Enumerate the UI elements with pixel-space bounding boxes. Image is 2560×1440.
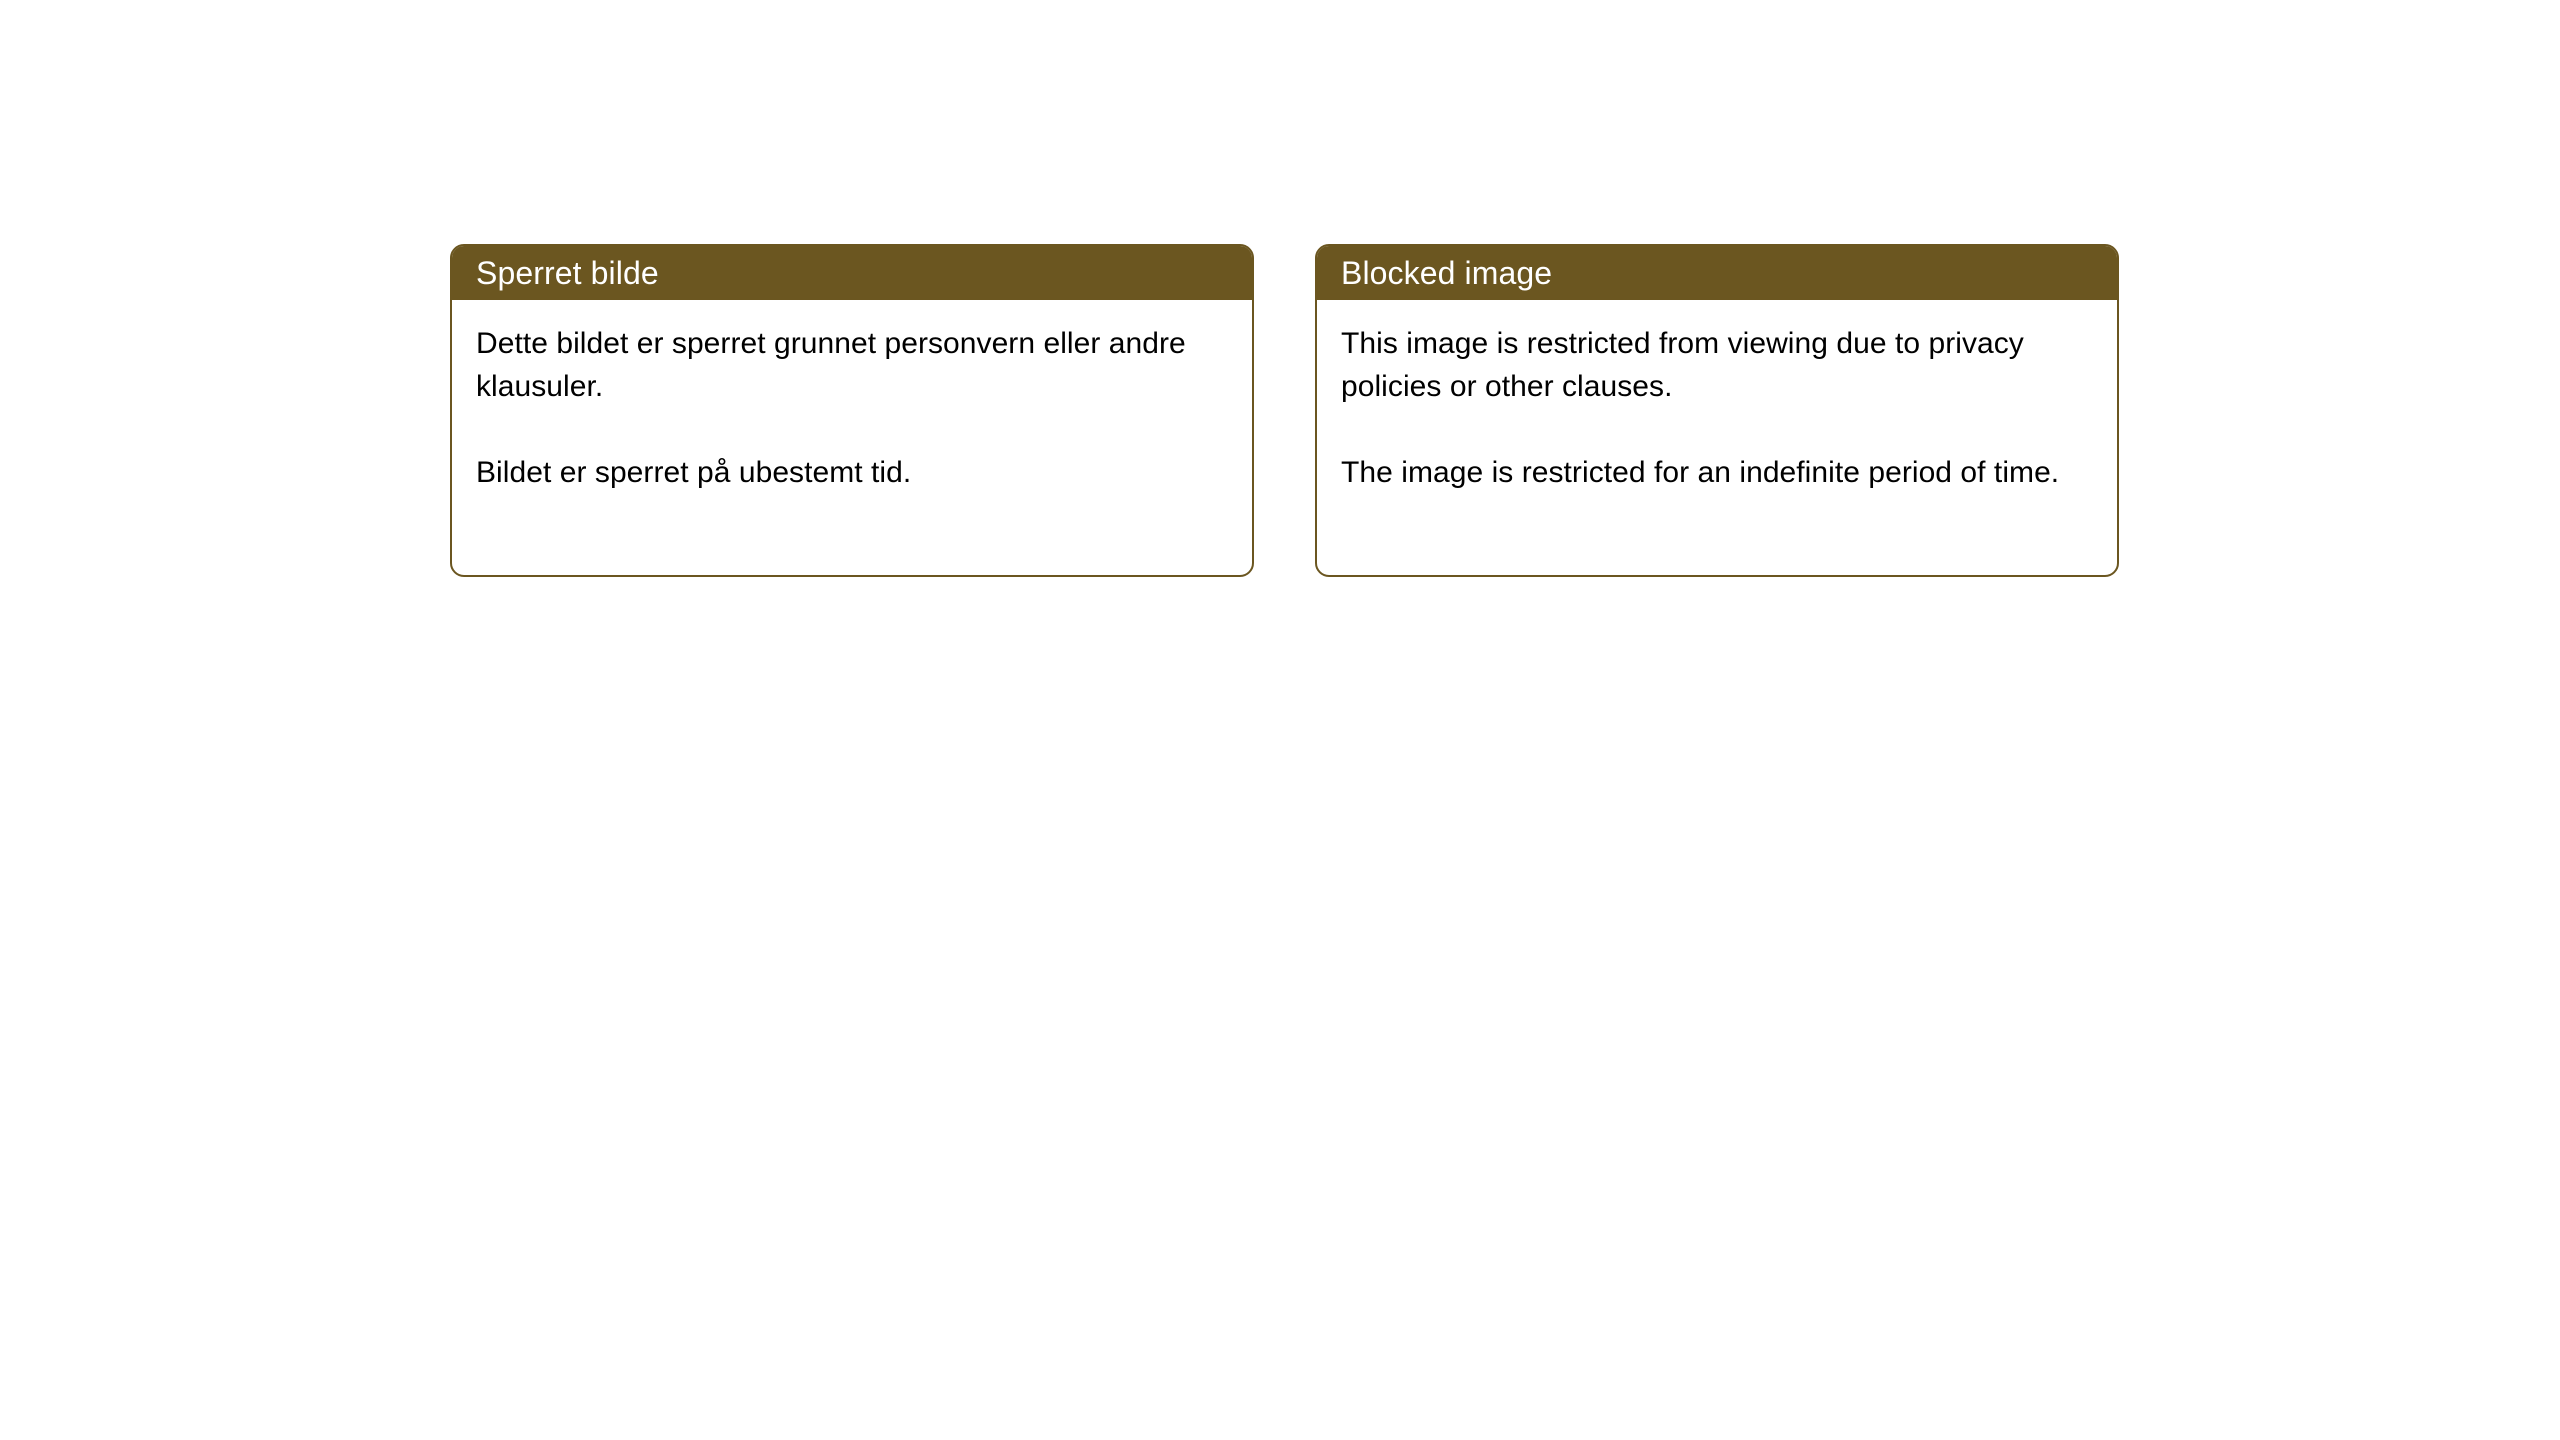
- card-paragraph-norwegian-2: Bildet er sperret på ubestemt tid.: [476, 451, 1228, 494]
- card-paragraph-norwegian-1: Dette bildet er sperret grunnet personve…: [476, 322, 1228, 408]
- card-body-english: This image is restricted from viewing du…: [1317, 300, 2117, 494]
- paragraph-spacer: [476, 408, 1228, 451]
- card-paragraph-english-2: The image is restricted for an indefinit…: [1341, 451, 2093, 494]
- card-title-norwegian: Sperret bilde: [476, 256, 659, 290]
- blocked-image-card-english: Blocked image This image is restricted f…: [1315, 244, 2119, 577]
- card-header-english: Blocked image: [1317, 246, 2117, 300]
- card-body-norwegian: Dette bildet er sperret grunnet personve…: [452, 300, 1252, 494]
- card-header-norwegian: Sperret bilde: [452, 246, 1252, 300]
- card-paragraph-english-1: This image is restricted from viewing du…: [1341, 322, 2093, 408]
- card-title-english: Blocked image: [1341, 256, 1552, 290]
- blocked-image-card-norwegian: Sperret bilde Dette bildet er sperret gr…: [450, 244, 1254, 577]
- paragraph-spacer: [1341, 408, 2093, 451]
- page-root: Sperret bilde Dette bildet er sperret gr…: [0, 0, 2560, 1440]
